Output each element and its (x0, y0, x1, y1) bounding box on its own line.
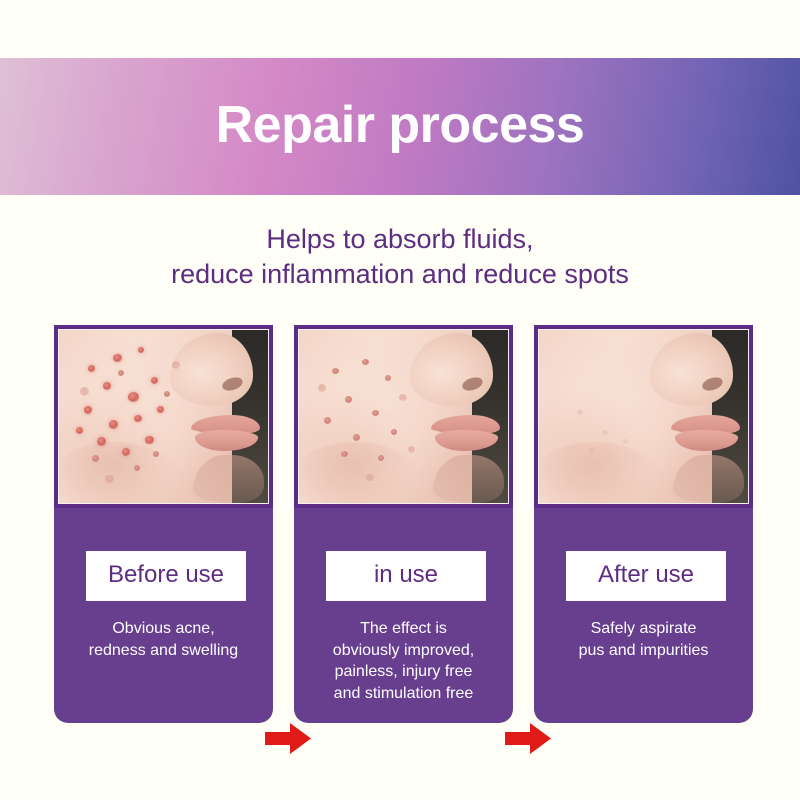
caption-line: Obvious acne, (62, 618, 265, 640)
photo-inner-in-use (298, 329, 509, 504)
acne-spots-moderate (299, 330, 508, 503)
caption-in-use: The effect is obviously improved, painle… (302, 618, 505, 704)
caption-line: painless, injury free (302, 661, 505, 683)
acne-spots-severe (59, 330, 268, 503)
photo-frame-in-use (294, 325, 513, 508)
subtitle: Helps to absorb fluids, reduce inflammat… (0, 222, 800, 292)
label-box-after-use: After use (566, 551, 726, 601)
caption-line: obviously improved, (302, 640, 505, 662)
photo-before-use (59, 330, 268, 503)
caption-before-use: Obvious acne, redness and swelling (62, 618, 265, 661)
label-box-before-use: Before use (86, 551, 246, 601)
arrow-right-icon (505, 723, 551, 754)
photo-inner-after-use (538, 329, 749, 504)
repair-process-infographic: Repair process Helps to absorb fluids, r… (0, 0, 800, 800)
card-label-after-use: After use (598, 563, 694, 587)
photo-inner-before-use (58, 329, 269, 504)
card-label-in-use: in use (374, 563, 438, 587)
acne-spots-clear (539, 330, 748, 503)
subtitle-line-2: reduce inflammation and reduce spots (0, 257, 800, 292)
photo-in-use (299, 330, 508, 503)
header-banner: Repair process (0, 58, 800, 195)
card-before-use: Before use Obvious acne, redness and swe… (54, 325, 273, 723)
card-label-before-use: Before use (108, 563, 224, 587)
subtitle-line-1: Helps to absorb fluids, (0, 222, 800, 257)
caption-after-use: Safely aspirate pus and impurities (542, 618, 745, 661)
card-row: Before use Obvious acne, redness and swe… (0, 325, 800, 725)
photo-frame-before-use (54, 325, 273, 508)
label-box-in-use: in use (326, 551, 486, 601)
caption-line: and stimulation free (302, 683, 505, 705)
photo-after-use (539, 330, 748, 503)
caption-line: Safely aspirate (542, 618, 745, 640)
arrow-right-icon (265, 723, 311, 754)
card-in-use: in use The effect is obviously improved,… (294, 325, 513, 723)
card-after-use: After use Safely aspirate pus and impuri… (534, 325, 753, 723)
caption-line: pus and impurities (542, 640, 745, 662)
caption-line: The effect is (302, 618, 505, 640)
photo-frame-after-use (534, 325, 753, 508)
page-title: Repair process (0, 58, 800, 195)
caption-line: redness and swelling (62, 640, 265, 662)
